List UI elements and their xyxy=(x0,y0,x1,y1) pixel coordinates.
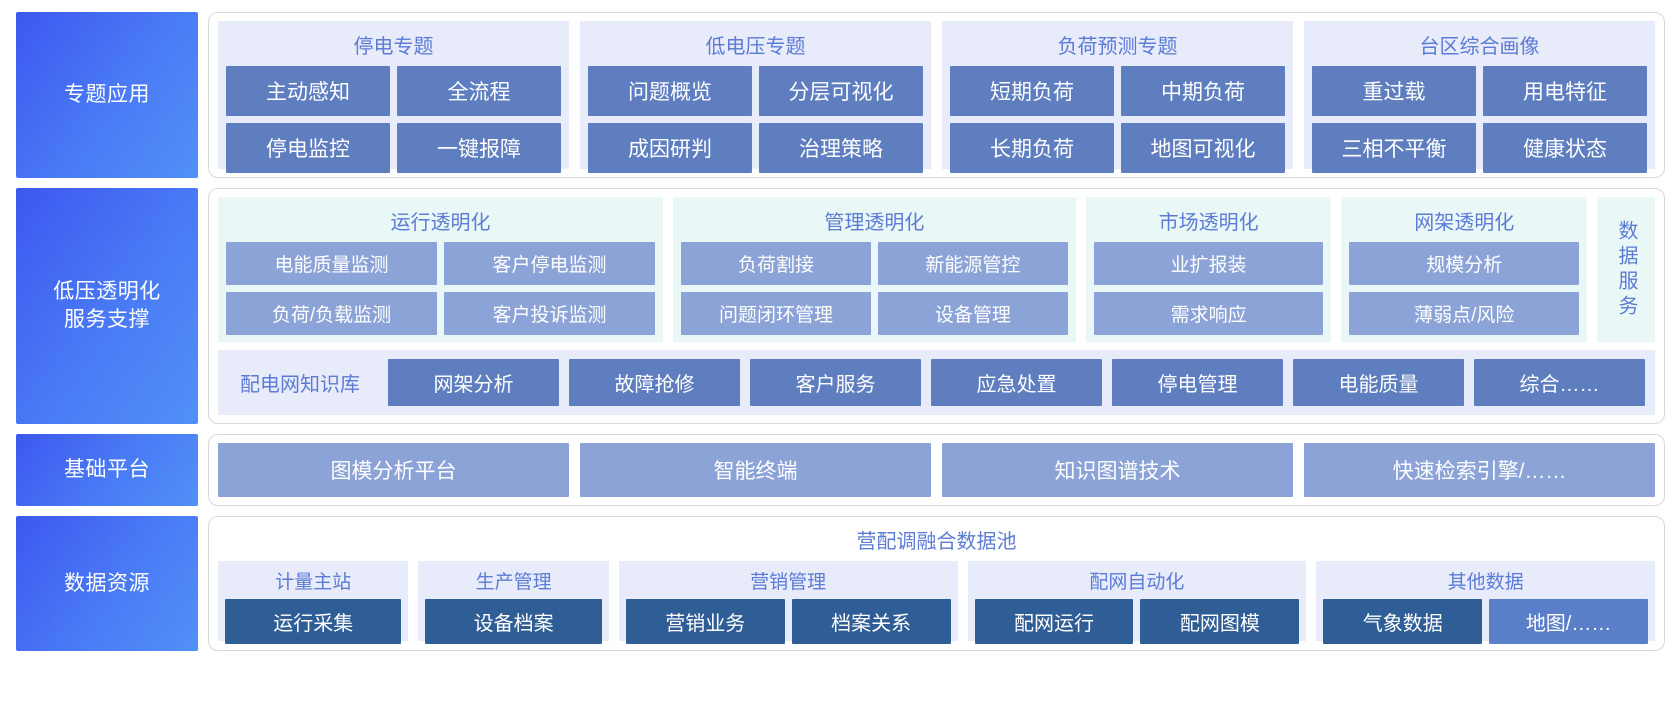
tile-problem-closed-loop-management[interactable]: 问题闭环管理 xyxy=(681,292,871,335)
tile-distribution-graph-model[interactable]: 配网图模 xyxy=(1140,599,1299,644)
tile-graph-model-analysis-platform[interactable]: 图模分析平台 xyxy=(218,443,569,497)
tile-one-click-report[interactable]: 一键报障 xyxy=(397,123,561,173)
tile-equipment-management[interactable]: 设备管理 xyxy=(878,292,1068,335)
layer-row-lv-transparency-service: 低压透明化 服务支撑 运行透明化 电能质量监测 客户停电监测 负荷/负载监测 客… xyxy=(16,188,1665,424)
group-title-metering-master-station: 计量主站 xyxy=(225,566,401,599)
layer-label-foundation-platform: 基础平台 xyxy=(16,434,198,506)
group-low-voltage-topic: 低电压专题 问题概览 分层可视化 成因研判 治理策略 xyxy=(580,21,931,169)
data-resources-panel: 营配调融合数据池 计量主站 运行采集 生产管理 设备档案 xyxy=(208,516,1665,651)
tile-usage-characteristics[interactable]: 用电特征 xyxy=(1483,66,1647,116)
layer-label-lv-transparency-service: 低压透明化 服务支撑 xyxy=(16,188,198,424)
tile-distribution-operation[interactable]: 配网运行 xyxy=(975,599,1134,644)
group-management-transparency: 管理透明化 负荷割接 新能源管控 问题闭环管理 设备管理 xyxy=(673,197,1076,342)
group-title-grid-transparency: 网架透明化 xyxy=(1349,204,1579,242)
tile-active-sensing[interactable]: 主动感知 xyxy=(226,66,390,116)
tile-cause-analysis[interactable]: 成因研判 xyxy=(588,123,752,173)
group-title-load-forecast-topic: 负荷预测专题 xyxy=(950,28,1285,66)
tile-short-term-load[interactable]: 短期负荷 xyxy=(950,66,1114,116)
tile-outage-management[interactable]: 停电管理 xyxy=(1112,359,1283,406)
tile-new-energy-control[interactable]: 新能源管控 xyxy=(878,242,1068,285)
group-other-data: 其他数据 气象数据 地图/…… xyxy=(1316,561,1655,641)
architecture-diagram: 专题应用 停电专题 主动感知 全流程 停电监控 一键报障 低电压专题 xyxy=(0,0,1679,707)
tile-three-phase-imbalance[interactable]: 三相不平衡 xyxy=(1312,123,1476,173)
tile-customer-outage-monitoring[interactable]: 客户停电监测 xyxy=(444,242,655,285)
group-title-other-data: 其他数据 xyxy=(1323,566,1648,599)
tile-long-term-load[interactable]: 长期负荷 xyxy=(950,123,1114,173)
group-title-production-management: 生产管理 xyxy=(425,566,601,599)
group-title-low-voltage-topic: 低电压专题 xyxy=(588,28,923,66)
tile-business-expansion[interactable]: 业扩报装 xyxy=(1094,242,1324,285)
tile-heavy-overload[interactable]: 重过载 xyxy=(1312,66,1476,116)
tile-full-process[interactable]: 全流程 xyxy=(397,66,561,116)
tile-weak-point-risk[interactable]: 薄弱点/风险 xyxy=(1349,292,1579,335)
group-title-operation-transparency: 运行透明化 xyxy=(226,204,655,242)
group-title-data-service: 数据服务 xyxy=(1616,220,1636,320)
layer-label-lv-line1: 低压透明化 服务支撑 xyxy=(53,278,161,333)
group-marketing-management: 营销管理 营销业务 档案关系 xyxy=(619,561,958,641)
tile-mid-term-load[interactable]: 中期负荷 xyxy=(1121,66,1285,116)
group-load-forecast-topic: 负荷预测专题 短期负荷 中期负荷 长期负荷 地图可视化 xyxy=(942,21,1293,169)
tile-layered-visualization[interactable]: 分层可视化 xyxy=(759,66,923,116)
tile-scale-analysis[interactable]: 规模分析 xyxy=(1349,242,1579,285)
group-metering-master-station: 计量主站 运行采集 xyxy=(218,561,408,641)
group-grid-transparency: 网架透明化 规模分析 薄弱点/风险 xyxy=(1341,197,1587,342)
tile-power-quality[interactable]: 电能质量 xyxy=(1293,359,1464,406)
layer-row-thematic-applications: 专题应用 停电专题 主动感知 全流程 停电监控 一键报障 低电压专题 xyxy=(16,12,1665,178)
tile-map-visualization[interactable]: 地图可视化 xyxy=(1121,123,1285,173)
foundation-platform-panel: 图模分析平台 智能终端 知识图谱技术 快速检索引擎/…… xyxy=(208,434,1665,506)
lv-transparency-panel: 运行透明化 电能质量监测 客户停电监测 负荷/负载监测 客户投诉监测 管理透明化 xyxy=(208,188,1665,424)
tile-governance-strategy[interactable]: 治理策略 xyxy=(759,123,923,173)
tile-problem-overview[interactable]: 问题概览 xyxy=(588,66,752,116)
tile-comprehensive-more[interactable]: 综合…… xyxy=(1474,359,1645,406)
data-pool-title: 营配调融合数据池 xyxy=(218,523,1655,557)
group-market-transparency: 市场透明化 业扩报装 需求响应 xyxy=(1086,197,1332,342)
tile-smart-terminal[interactable]: 智能终端 xyxy=(580,443,931,497)
group-data-service: 数据服务 xyxy=(1597,197,1655,342)
tile-outage-monitoring[interactable]: 停电监控 xyxy=(226,123,390,173)
group-title-management-transparency: 管理透明化 xyxy=(681,204,1068,242)
tile-customer-service[interactable]: 客户服务 xyxy=(750,359,921,406)
tile-fault-repair[interactable]: 故障抢修 xyxy=(569,359,740,406)
tile-knowledge-graph-technology[interactable]: 知识图谱技术 xyxy=(942,443,1293,497)
tile-power-quality-monitoring[interactable]: 电能质量监测 xyxy=(226,242,437,285)
group-outage-topic: 停电专题 主动感知 全流程 停电监控 一键报障 xyxy=(218,21,569,169)
layer-label-data-resources: 数据资源 xyxy=(16,516,198,651)
knowledge-base-title: 配电网知识库 xyxy=(228,368,378,397)
tile-demand-response[interactable]: 需求响应 xyxy=(1094,292,1324,335)
tile-equipment-archive[interactable]: 设备档案 xyxy=(425,599,601,644)
group-title-distribution-automation: 配网自动化 xyxy=(975,566,1300,599)
tile-grid-analysis[interactable]: 网架分析 xyxy=(388,359,559,406)
group-production-management: 生产管理 设备档案 xyxy=(418,561,608,641)
tile-fast-search-engine[interactable]: 快速检索引擎/…… xyxy=(1304,443,1655,497)
tile-archive-relationship[interactable]: 档案关系 xyxy=(792,599,951,644)
tile-customer-complaint-monitoring[interactable]: 客户投诉监测 xyxy=(444,292,655,335)
layer-row-data-resources: 数据资源 营配调融合数据池 计量主站 运行采集 生产管理 设备档案 xyxy=(16,516,1665,651)
tile-load-transfer[interactable]: 负荷割接 xyxy=(681,242,871,285)
group-title-station-profile: 台区综合画像 xyxy=(1312,28,1647,66)
tile-marketing-business[interactable]: 营销业务 xyxy=(626,599,785,644)
tile-load-monitoring[interactable]: 负荷/负载监测 xyxy=(226,292,437,335)
tile-weather-data[interactable]: 气象数据 xyxy=(1323,599,1482,644)
tile-emergency-handling[interactable]: 应急处置 xyxy=(931,359,1102,406)
group-title-marketing-management: 营销管理 xyxy=(626,566,951,599)
knowledge-base-strip: 配电网知识库 网架分析 故障抢修 客户服务 应急处置 停电管理 电能质量 综合…… xyxy=(218,350,1655,415)
group-title-outage-topic: 停电专题 xyxy=(226,28,561,66)
tile-operation-collection[interactable]: 运行采集 xyxy=(225,599,401,644)
group-distribution-automation: 配网自动化 配网运行 配网图模 xyxy=(968,561,1307,641)
group-station-profile: 台区综合画像 重过载 用电特征 三相不平衡 健康状态 xyxy=(1304,21,1655,169)
thematic-applications-panel: 停电专题 主动感知 全流程 停电监控 一键报障 低电压专题 问题概览 xyxy=(208,12,1665,178)
group-operation-transparency: 运行透明化 电能质量监测 客户停电监测 负荷/负载监测 客户投诉监测 xyxy=(218,197,663,342)
layer-label-thematic-applications: 专题应用 xyxy=(16,12,198,178)
layer-row-foundation-platform: 基础平台 图模分析平台 智能终端 知识图谱技术 快速检索引擎/…… xyxy=(16,434,1665,506)
group-title-market-transparency: 市场透明化 xyxy=(1094,204,1324,242)
tile-health-status[interactable]: 健康状态 xyxy=(1483,123,1647,173)
tile-map-more[interactable]: 地图/…… xyxy=(1489,599,1648,644)
